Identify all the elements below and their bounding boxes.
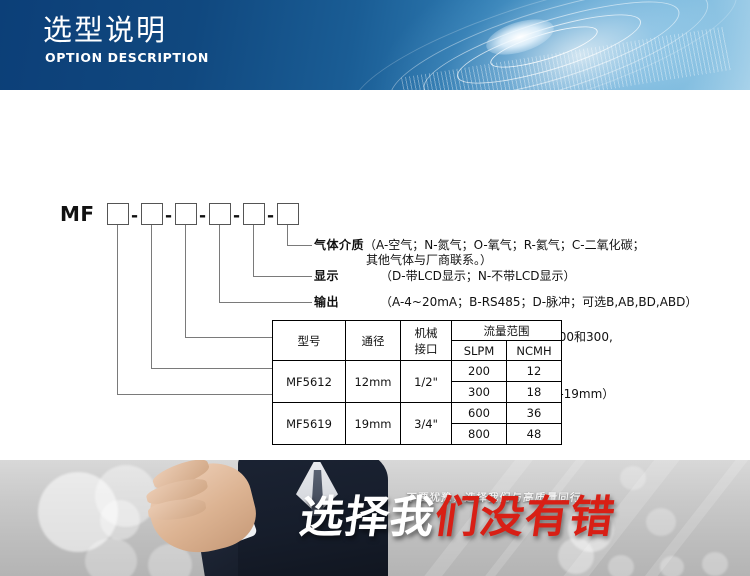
page-subtitle: OPTION DESCRIPTION: [45, 50, 209, 65]
table-row: MF5619 19mm 3/4" 600 36: [273, 403, 562, 424]
code-box-3[interactable]: [175, 203, 197, 225]
table-cell-slpm-2b: 800: [452, 424, 507, 445]
desc-gas-medium-value: （A-空气；N-氮气；O-氧气；R-氦气；C-二氧化碳；: [364, 238, 645, 252]
banner-bokeh-4: [85, 538, 137, 576]
code-separator-5: -: [267, 208, 274, 225]
leader-line-v-4: [219, 225, 220, 303]
table-header-row-1: 型号 通径 机械 接口 流量范围: [273, 321, 562, 341]
desc-output-label: 输出: [314, 295, 380, 310]
code-box-5[interactable]: [243, 203, 265, 225]
table-cell-ncmh-1b: 18: [507, 382, 562, 403]
code-box-6[interactable]: [277, 203, 299, 225]
table-header-flow-range: 流量范围: [452, 321, 562, 341]
banner-bokeh-9: [608, 555, 634, 576]
table-cell-mech-2: 3/4": [401, 403, 452, 445]
spec-table-wrapper: 型号 通径 机械 接口 流量范围 SLPM NCMH MF5612 12mm 1…: [272, 320, 562, 445]
banner-slogan: 选择我们没有错: [297, 496, 618, 540]
table-cell-model-1: MF5612: [273, 361, 346, 403]
spec-table: 型号 通径 机械 接口 流量范围 SLPM NCMH MF5612 12mm 1…: [272, 320, 562, 445]
table-cell-slpm-1a: 200: [452, 361, 507, 382]
table-cell-ncmh-1a: 12: [507, 361, 562, 382]
table-cell-ncmh-2a: 36: [507, 403, 562, 424]
table-header-mech-line1: 机械: [401, 325, 451, 341]
leader-line-h-4: [219, 302, 312, 303]
banner-bokeh-12: [620, 466, 646, 490]
desc-output: 输出（A-4~20mA；B-RS485；D-脉冲；可选B,AB,BD,ABD）: [314, 295, 697, 310]
leader-line-h-5: [253, 276, 312, 277]
desc-display: 显示（D-带LCD显示；N-不带LCD显示）: [314, 269, 576, 284]
desc-display-value: （D-带LCD显示；N-不带LCD显示）: [380, 269, 576, 283]
leader-line-v-5: [253, 225, 254, 277]
model-prefix-label: MF: [60, 202, 95, 226]
leader-line-v-3: [185, 225, 186, 338]
table-header-mech: 机械 接口: [401, 321, 452, 361]
table-cell-model-2: MF5619: [273, 403, 346, 445]
banner-slogan-white: 选择我: [296, 492, 438, 543]
leader-line-v-2: [151, 225, 152, 369]
table-header-ncmh: NCMH: [507, 341, 562, 361]
code-separator-1: -: [131, 208, 138, 225]
banner-slogan-red: 们没有错: [431, 492, 618, 543]
table-header-bore: 通径: [346, 321, 401, 361]
table-header-slpm: SLPM: [452, 341, 507, 361]
code-separator-3: -: [199, 208, 206, 225]
table-cell-bore-2: 19mm: [346, 403, 401, 445]
table-header-model: 型号: [273, 321, 346, 361]
code-box-1[interactable]: [107, 203, 129, 225]
page-title: 选型说明: [43, 16, 167, 45]
banner-bokeh-10: [660, 556, 684, 576]
code-box-2[interactable]: [141, 203, 163, 225]
table-cell-slpm-2a: 600: [452, 403, 507, 424]
code-separator-2: -: [165, 208, 172, 225]
table-row: MF5612 12mm 1/2" 200 12: [273, 361, 562, 382]
desc-display-label: 显示: [314, 269, 380, 284]
code-separator-4: -: [233, 208, 240, 225]
desc-gas-medium: 气体介质（A-空气；N-氮气；O-氧气；R-氦气；C-二氧化碳； 其他气体与厂商…: [314, 238, 645, 268]
desc-output-value: （A-4~20mA；B-RS485；D-脉冲；可选B,AB,BD,ABD）: [380, 295, 697, 309]
desc-gas-medium-label: 气体介质: [314, 238, 364, 252]
table-cell-ncmh-2b: 48: [507, 424, 562, 445]
banner-bokeh-11: [702, 552, 728, 576]
banner-bokeh-8: [558, 538, 594, 574]
leader-line-v-6: [287, 225, 288, 246]
desc-gas-medium-value2: 其他气体与厂商联系。）: [314, 253, 645, 268]
table-cell-bore-1: 12mm: [346, 361, 401, 403]
code-box-4[interactable]: [209, 203, 231, 225]
page-header: 选型说明 OPTION DESCRIPTION: [0, 0, 750, 90]
leader-line-h-6: [287, 245, 312, 246]
table-header-mech-line2: 接口: [401, 341, 451, 357]
table-cell-mech-1: 1/2": [401, 361, 452, 403]
banner-bokeh-13: [646, 508, 676, 536]
leader-line-v-1: [117, 225, 118, 395]
table-cell-slpm-1b: 300: [452, 382, 507, 403]
